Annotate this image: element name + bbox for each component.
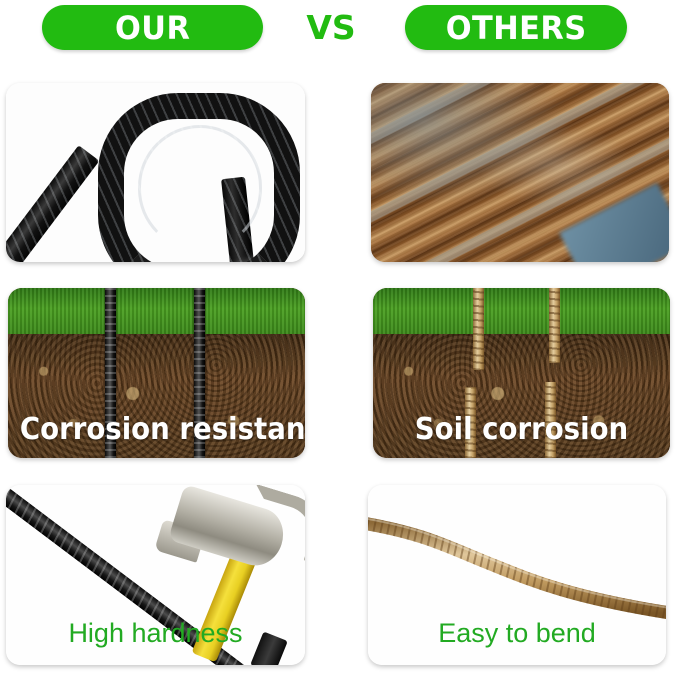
card-our-high-hardness: High hardness (6, 485, 305, 665)
rebar-hook (98, 93, 300, 262)
corroded-rebar-right-upper (549, 288, 560, 363)
card-caption: High hardness (6, 618, 305, 649)
card-others-soil-corrosion: Soil corrosion (373, 288, 670, 458)
card-our-antirust: Antirust (6, 83, 305, 262)
card-caption: Soil corrosion (385, 412, 658, 447)
antirust-rebar-photo (6, 83, 305, 262)
grass-layer (8, 288, 305, 334)
others-pill-label: OTHERS (446, 12, 587, 44)
card-others-rust: Rust (371, 83, 669, 262)
card-our-corrosion-resistance: Corrosion resistance (8, 288, 305, 458)
card-others-easy-to-bend: Easy to bend (368, 485, 666, 665)
grass-layer (373, 288, 670, 334)
card-caption: Corrosion resistance (20, 412, 293, 447)
our-pill-label: OUR (115, 12, 190, 44)
comparison-header: OUR VS OTHERS (0, 0, 679, 60)
our-pill: OUR (42, 5, 263, 50)
rusted-rebar-stack-photo (371, 83, 669, 262)
card-caption: Easy to bend (368, 618, 666, 649)
vs-label: VS (298, 8, 364, 48)
others-pill: OTHERS (405, 5, 627, 50)
rebar-leg-left (6, 145, 99, 262)
corroded-rebar-left-upper (473, 288, 484, 370)
